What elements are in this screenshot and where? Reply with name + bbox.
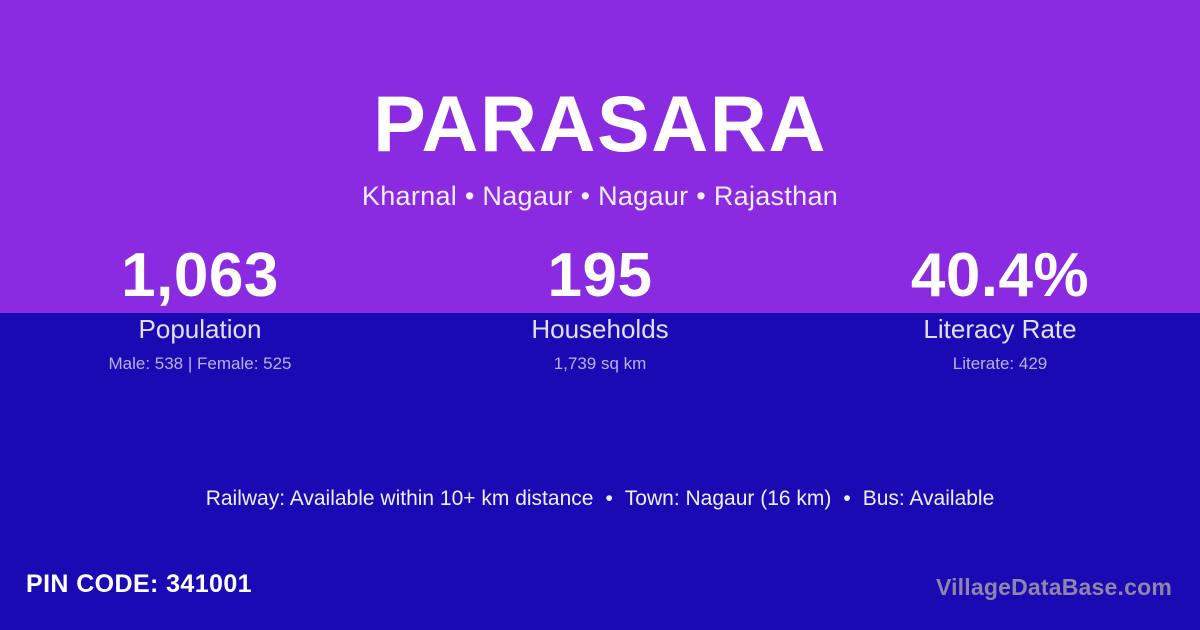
village-info-card: PARASARA Kharnal • Nagaur • Nagaur • Raj… bbox=[0, 0, 1200, 630]
stat-value-households: 195 bbox=[400, 240, 800, 312]
amenity-separator-1: • bbox=[593, 485, 624, 513]
stat-literacy-rate: 40.4% Literacy Rate Literate: 429 bbox=[800, 240, 1200, 375]
breadcrumb: Kharnal • Nagaur • Nagaur • Rajasthan bbox=[0, 166, 1200, 212]
stat-sub-households: 1,739 sq km bbox=[400, 353, 800, 375]
stat-label-households: Households bbox=[400, 313, 800, 345]
card-header: PARASARA Kharnal • Nagaur • Nagaur • Raj… bbox=[0, 0, 1200, 212]
stat-label-population: Population bbox=[0, 313, 400, 345]
stat-sub-population: Male: 538 | Female: 525 bbox=[0, 353, 400, 375]
card-footer: PIN CODE: 341001 VillageDataBase.com bbox=[0, 556, 1200, 630]
pin-code: PIN CODE: 341001 bbox=[26, 568, 252, 600]
stat-households: 195 Households 1,739 sq km bbox=[400, 240, 800, 375]
stat-sub-literacy-rate: Literate: 429 bbox=[800, 353, 1200, 375]
brand-watermark: VillageDataBase.com bbox=[936, 572, 1172, 602]
stat-population: 1,063 Population Male: 538 | Female: 525 bbox=[0, 240, 400, 375]
stat-value-literacy-rate: 40.4% bbox=[800, 240, 1200, 312]
stat-label-literacy-rate: Literacy Rate bbox=[800, 313, 1200, 345]
page-title: PARASARA bbox=[0, 0, 1200, 166]
stats-row: 1,063 Population Male: 538 | Female: 525… bbox=[0, 240, 1200, 375]
amenities-line: Railway: Available within 10+ km distanc… bbox=[0, 485, 1200, 513]
amenity-railway: Railway: Available within 10+ km distanc… bbox=[206, 487, 594, 510]
amenity-separator-2: • bbox=[831, 485, 862, 513]
stat-value-population: 1,063 bbox=[0, 240, 400, 312]
amenity-bus: Bus: Available bbox=[863, 487, 995, 510]
amenity-town: Town: Nagaur (16 km) bbox=[625, 487, 832, 510]
